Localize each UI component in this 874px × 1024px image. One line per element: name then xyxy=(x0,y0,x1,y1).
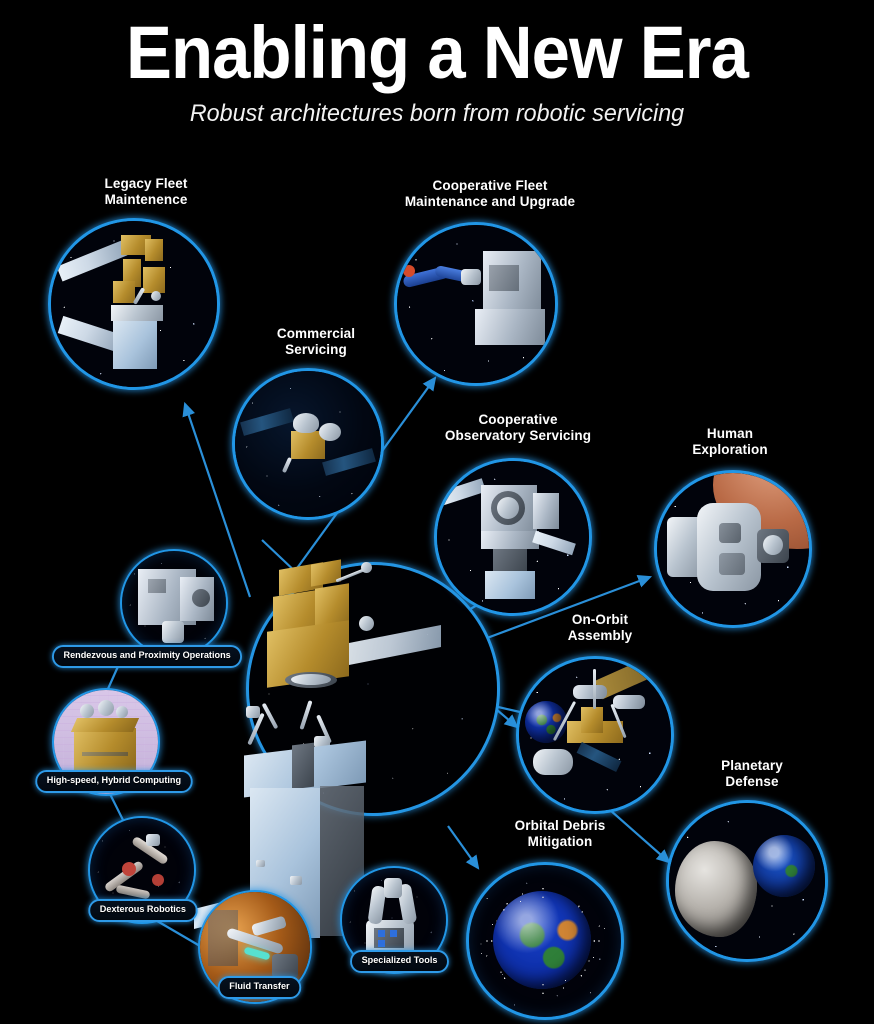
circle-cooperative-fleet-maintenance-and-upgrade[interactable] xyxy=(394,222,558,386)
caption-legacy-fleet-maintenence: Legacy Fleet Maintenence xyxy=(44,176,248,207)
infographic-canvas: Enabling a New Era Robust architectures … xyxy=(0,0,874,1024)
caption-orbital-debris-mitigation: Orbital Debris Mitigation xyxy=(470,818,650,849)
caption-planetary-defense: Planetary Defense xyxy=(670,758,834,789)
circle-human-exploration[interactable] xyxy=(654,470,812,628)
pill-specialized-tools[interactable]: Specialized Tools xyxy=(350,950,449,973)
circle-rendezvous-and-proximity-operations[interactable] xyxy=(120,549,228,657)
circle-legacy-fleet-maintenence[interactable] xyxy=(48,218,220,390)
circle-orbital-debris-mitigation[interactable] xyxy=(466,862,624,1020)
circle-cooperative-observatory-servicing[interactable] xyxy=(434,458,592,616)
caption-commercial-servicing: Commercial Servicing xyxy=(228,326,404,357)
circle-on-orbit-assembly[interactable] xyxy=(516,656,674,814)
pill-rendezvous-and-proximity-operations[interactable]: Rendezvous and Proximity Operations xyxy=(52,645,242,668)
circle-planetary-defense[interactable] xyxy=(666,800,828,962)
pill-high-speed-hybrid-computing[interactable]: High-speed, Hybrid Computing xyxy=(35,770,192,793)
circle-commercial-servicing[interactable] xyxy=(232,368,384,520)
pill-fluid-transfer[interactable]: Fluid Transfer xyxy=(218,976,301,999)
caption-human-exploration: Human Exploration xyxy=(640,426,820,457)
caption-cooperative-fleet-maintenance-and-upgrade: Cooperative Fleet Maintenance and Upgrad… xyxy=(370,178,610,209)
stem-fluid-transfer xyxy=(152,918,200,946)
pill-dexterous-robotics[interactable]: Dexterous Robotics xyxy=(88,899,197,922)
caption-on-orbit-assembly: On-Orbit Assembly xyxy=(520,612,680,643)
caption-cooperative-observatory-servicing: Cooperative Observatory Servicing xyxy=(408,412,628,443)
